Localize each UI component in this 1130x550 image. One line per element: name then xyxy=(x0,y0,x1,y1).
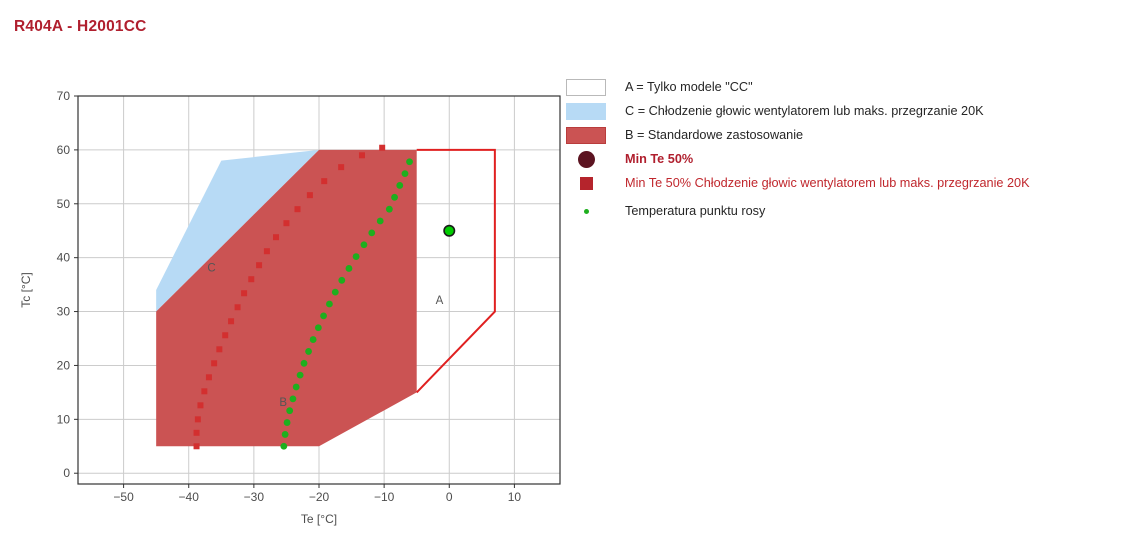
legend-item-label: A = Tylko modele "CC" xyxy=(625,78,753,95)
marker-circle xyxy=(368,229,375,236)
legend-item-label: C = Chłodzenie głowic wentylatorem lub m… xyxy=(625,102,984,119)
marker-square xyxy=(194,443,200,449)
marker-circle xyxy=(290,395,297,402)
marker-circle xyxy=(286,407,293,414)
y-tick-label: 50 xyxy=(57,197,71,211)
x-tick-label: 10 xyxy=(508,490,522,504)
legend-item: B = Standardowe zastosowanie xyxy=(566,126,1126,147)
legend-item: A = Tylko modele "CC" xyxy=(566,78,1126,99)
marker-square xyxy=(222,332,228,338)
dot-green-icon xyxy=(584,209,589,214)
marker-circle xyxy=(282,431,289,438)
marker-circle xyxy=(361,241,368,248)
legend-marker xyxy=(566,151,606,168)
marker-square xyxy=(206,374,212,380)
circle-maroon-icon xyxy=(578,151,595,168)
region-label-b: B xyxy=(279,397,287,409)
marker-square xyxy=(241,290,247,296)
legend-marker xyxy=(566,209,606,214)
legend-marker-wrap xyxy=(566,174,616,193)
marker-square xyxy=(248,276,254,282)
marker-square xyxy=(295,206,301,212)
marker-square xyxy=(235,304,241,310)
y-tick-label: 10 xyxy=(57,412,71,426)
marker-circle xyxy=(326,301,333,308)
marker-circle xyxy=(301,360,308,367)
marker-square xyxy=(273,234,279,240)
marker-circle xyxy=(305,348,312,355)
x-axis-title: Te [°C] xyxy=(301,512,337,526)
marker-square xyxy=(338,164,344,170)
y-tick-label: 30 xyxy=(57,305,71,319)
legend-swatch xyxy=(566,126,616,145)
square-red-icon xyxy=(580,177,593,190)
marker-square xyxy=(197,402,203,408)
marker-circle xyxy=(377,218,384,225)
y-tick-label: 20 xyxy=(57,358,71,372)
marker-circle xyxy=(338,277,345,284)
legend-swatch xyxy=(566,78,616,97)
chart-plot: ACB−50−40−30−20−10010010203040506070Te [… xyxy=(0,0,570,550)
legend-item-label: B = Standardowe zastosowanie xyxy=(625,126,803,143)
marker-circle xyxy=(310,336,317,343)
marker-circle xyxy=(284,419,291,426)
marker-circle xyxy=(346,265,353,272)
legend-marker-wrap xyxy=(566,150,616,169)
marker-square xyxy=(379,145,385,151)
x-tick-label: −10 xyxy=(374,490,395,504)
legend-swatch xyxy=(566,102,616,121)
marker-circle xyxy=(320,312,327,319)
marker-circle xyxy=(293,384,300,391)
marker-square xyxy=(359,152,365,158)
legend-item-label: Min Te 50% xyxy=(625,150,693,167)
legend-item: Min Te 50% xyxy=(566,150,1126,171)
legend-marker xyxy=(566,177,606,190)
operating-point-marker xyxy=(444,226,454,236)
y-tick-label: 0 xyxy=(63,466,70,480)
x-tick-label: −50 xyxy=(113,490,134,504)
marker-square xyxy=(228,318,234,324)
legend-marker-wrap xyxy=(566,202,616,221)
region-label-a: A xyxy=(436,295,444,307)
y-tick-label: 40 xyxy=(57,251,71,265)
legend-item-label: Temperatura punktu rosy xyxy=(625,202,765,219)
marker-square xyxy=(307,192,313,198)
marker-square xyxy=(321,178,327,184)
marker-square xyxy=(264,248,270,254)
marker-circle xyxy=(280,443,287,450)
marker-square xyxy=(216,346,222,352)
y-axis-title: Tc [°C] xyxy=(19,272,33,307)
marker-square xyxy=(211,360,217,366)
x-tick-label: −40 xyxy=(179,490,200,504)
marker-circle xyxy=(406,158,413,165)
y-tick-label: 60 xyxy=(57,143,71,157)
chart-svg: ACB−50−40−30−20−10010010203040506070Te [… xyxy=(0,0,570,550)
marker-circle xyxy=(315,324,322,331)
marker-circle xyxy=(402,170,409,177)
legend-item: Temperatura punktu rosy xyxy=(566,202,1126,223)
legend-item-label: Min Te 50% Chłodzenie głowic wentylatore… xyxy=(625,174,1030,191)
y-tick-label: 70 xyxy=(57,89,71,103)
swatch-c-icon xyxy=(566,103,606,120)
marker-square xyxy=(283,220,289,226)
marker-circle xyxy=(386,206,393,213)
swatch-a-icon xyxy=(566,79,606,96)
x-tick-label: −30 xyxy=(244,490,265,504)
x-tick-label: 0 xyxy=(446,490,453,504)
marker-square xyxy=(201,388,207,394)
marker-circle xyxy=(391,194,398,201)
marker-square xyxy=(195,416,201,422)
legend-item: C = Chłodzenie głowic wentylatorem lub m… xyxy=(566,102,1126,123)
marker-square xyxy=(194,430,200,436)
marker-circle xyxy=(353,253,360,260)
marker-square xyxy=(256,262,262,268)
chart-legend: A = Tylko modele "CC"C = Chłodzenie głow… xyxy=(566,78,1126,226)
swatch-b-icon xyxy=(566,127,606,144)
x-tick-label: −20 xyxy=(309,490,330,504)
region-label-c: C xyxy=(207,262,215,274)
marker-circle xyxy=(297,372,304,379)
marker-circle xyxy=(396,182,403,189)
marker-circle xyxy=(332,289,339,296)
legend-item: Min Te 50% Chłodzenie głowic wentylatore… xyxy=(566,174,1126,195)
